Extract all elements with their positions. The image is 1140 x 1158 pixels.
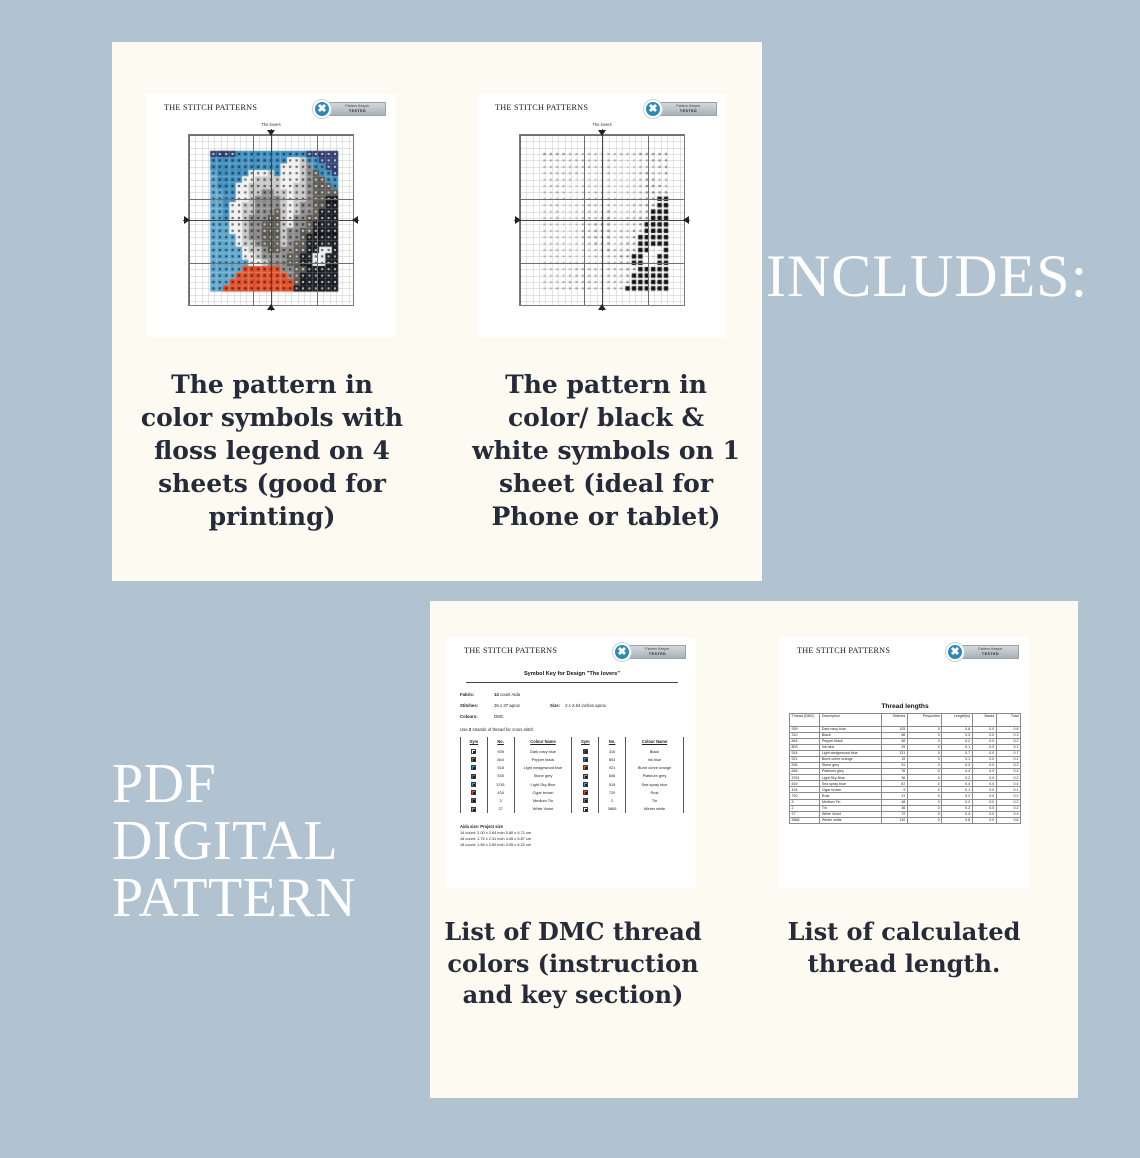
dmc-number-right: 519 [599, 780, 626, 788]
badge-x-icon: ✖ [312, 99, 332, 119]
caption-thread-length: List of calculated thread length. [766, 916, 1042, 979]
badge-line2: TESTED [661, 109, 716, 113]
aida-size-line-3: 18 count: 1.56 x 2.60 inch 3.95 x 5.22 c… [460, 842, 684, 848]
badge-line1: Pattern Keeper [963, 647, 1018, 651]
col-header-stitches: Stitches [881, 714, 907, 727]
size-label: Size: [550, 703, 560, 708]
colour-name-left: Light wedgewood blue [514, 764, 572, 772]
chart-grid [519, 134, 685, 306]
table-header-row: Sym No. Colour Name Sym No. Colour Name [461, 737, 684, 747]
pattern-keeper-badge: Pattern Keeper TESTED ✖ [312, 99, 386, 119]
thread-length: 0.6 [942, 817, 972, 823]
thread-total: 0.6 [996, 817, 1020, 823]
dmc-number-right: 3865 [599, 805, 626, 813]
symbol-swatch-right [572, 764, 599, 772]
stitch-canvas-bw [520, 135, 686, 307]
badge-ribbon: Pattern Keeper TESTED [962, 645, 1019, 659]
thread-lengths-heading: Thread lengths [789, 703, 1021, 710]
chart-marker-top-icon [598, 130, 606, 136]
divider [466, 682, 678, 683]
sheet-symbol-key[interactable]: THE STITCH PATTERNS Pattern Keeper TESTE… [446, 637, 696, 888]
floss-symbol-icon [583, 774, 588, 779]
pattern-keeper-badge: Pattern Keeper TESTED ✖ [643, 99, 717, 119]
symbol-swatch-right [572, 755, 599, 763]
thread-number: 3865 [790, 817, 820, 823]
symbol-swatch-left [461, 805, 488, 813]
pattern-chart-bw: The lovers [507, 130, 697, 325]
dmc-number-left: 27 [487, 805, 514, 813]
colour-name-left: Pepper black [514, 755, 572, 763]
col-header-length: Length(m) [942, 714, 972, 727]
pdf-line-3: PATTERN [112, 870, 356, 927]
dmc-number-left: 434 [487, 788, 514, 796]
sheet-color-symbols[interactable]: THE STITCH PATTERNS Pattern Keeper TESTE… [146, 94, 396, 337]
symbol-swatch-left [461, 788, 488, 796]
dmc-number-left: 844 [487, 755, 514, 763]
floss-symbol-icon [471, 807, 476, 812]
dmc-number-left: 939 [487, 747, 514, 755]
floss-symbol-icon [471, 782, 476, 787]
col-header-pespuntes: Pespuntes [907, 714, 941, 727]
colour-name-left: Cigar brown [514, 788, 572, 796]
symbol-swatch-right [572, 747, 599, 755]
badge-line2: TESTED [330, 109, 385, 113]
col-header-sym-left: Sym [461, 737, 488, 747]
colours-row: Colours: DMC [460, 714, 684, 719]
thread-pespuntes: 0 [907, 817, 941, 823]
symbol-swatch-left [461, 772, 488, 780]
strands-pre: Use [460, 727, 469, 732]
badge-ribbon: Pattern Keeper TESTED [329, 102, 386, 116]
badge-line2: TESTED [963, 652, 1018, 656]
fabric-row: Fabric: 14 count Aida [460, 692, 684, 697]
sheet-title: THE STITCH PATTERNS [797, 646, 890, 655]
colour-name-right: Winter white [625, 805, 683, 813]
symbol-swatch-right [572, 772, 599, 780]
pattern-keeper-badge: Pattern Keeper TESTED ✖ [945, 642, 1019, 662]
colour-name-left: Dark navy blue [514, 747, 572, 755]
thread-lengths-table: Thread (DMC) Description Stitches Pespun… [789, 713, 1021, 824]
dmc-number-right: 720 [599, 788, 626, 796]
pdf-digital-pattern-heading: PDF DIGITAL PATTERN [112, 756, 356, 927]
colour-name-left: Stone grey [514, 772, 572, 780]
colour-name-right: Platinum grey [625, 772, 683, 780]
sheet-title: THE STITCH PATTERNS [464, 646, 557, 655]
table-row: 27White Violet3865Winter white [461, 805, 684, 813]
stitches-row: Stitches: 26 x 37 aprox Size: 2 x 2.64 i… [460, 703, 684, 708]
thread-lengths-table-body: 939Dark navy blue12500.60.00.6310Black66… [790, 726, 1021, 823]
strands-post: strands of thread for cross stitch [471, 727, 533, 732]
pdf-line-2: DIGITAL [112, 813, 356, 870]
colour-name-left: Medium Tin [514, 797, 572, 805]
chart-marker-top-icon [267, 130, 275, 136]
floss-symbol-icon [583, 757, 588, 762]
sheet-thread-lengths[interactable]: THE STITCH PATTERNS Pattern Keeper TESTE… [779, 637, 1029, 888]
dmc-number-right: 2 [599, 797, 626, 805]
colour-name-right: Tin [625, 797, 683, 805]
table-row: 518Light wedgewood blue921Burnt ochre or… [461, 764, 684, 772]
floss-symbol-icon [583, 798, 588, 803]
col-header-thread: Thread (DMC) [790, 714, 820, 727]
caption-color-symbols: The pattern in color symbols with floss … [136, 368, 408, 533]
symbol-swatch-left [461, 797, 488, 805]
fabric-label: Fabric: [460, 692, 494, 697]
sheet-title: THE STITCH PATTERNS [164, 103, 257, 112]
symbol-key-table: Sym No. Colour Name Sym No. Colour Name … [460, 737, 684, 813]
chart-marker-left-icon [184, 216, 190, 224]
chart-marker-right-icon [352, 216, 358, 224]
colour-name-right: Burnt ochre orange [625, 764, 683, 772]
table-row: 3865Winter white11000.60.00.6 [790, 817, 1021, 823]
strands-instruction: Use 2 strands of thread for cross stitch [460, 727, 684, 732]
chart-center-line-horizontal [514, 220, 690, 221]
badge-x-icon: ✖ [643, 99, 663, 119]
chart-center-line-horizontal [183, 220, 359, 221]
colours-label: Colours: [460, 714, 494, 719]
thread-description: Winter white [820, 817, 881, 823]
col-header-no-left: No. [487, 737, 514, 747]
col-header-no-right: No. [599, 737, 626, 747]
thread-backs: 0.0 [972, 817, 996, 823]
stitches-value: 26 x 37 aprox [494, 703, 520, 708]
floss-symbol-icon [583, 782, 588, 787]
table-row: 3Medium Tin2Tin [461, 797, 684, 805]
chart-marker-bottom-icon [267, 304, 275, 310]
colour-name-right: Sea spray blue [625, 780, 683, 788]
symbol-swatch-left [461, 755, 488, 763]
sheet-bw-symbols[interactable]: THE STITCH PATTERNS Pattern Keeper TESTE… [477, 94, 727, 337]
symbol-swatch-left [461, 780, 488, 788]
table-header-row: Thread (DMC) Description Stitches Pespun… [790, 714, 1021, 727]
col-header-name-left: Colour Name [514, 737, 572, 747]
fabric-unit: count Aida [499, 692, 520, 697]
pattern-keeper-badge: Pattern Keeper TESTED ✖ [612, 642, 686, 662]
colour-name-left: White Violet [514, 805, 572, 813]
dmc-number-right: 921 [599, 764, 626, 772]
col-header-sym-right: Sym [572, 737, 599, 747]
colour-name-right: Rust [625, 788, 683, 796]
badge-ribbon: Pattern Keeper TESTED [660, 102, 717, 116]
sheet-header: THE STITCH PATTERNS Pattern Keeper TESTE… [446, 637, 696, 667]
badge-ribbon: Pattern Keeper TESTED [629, 645, 686, 659]
dmc-number-right: 310 [599, 747, 626, 755]
chart-grid [188, 134, 354, 306]
stitch-canvas-color [189, 135, 355, 307]
dmc-number-left: 3 [487, 797, 514, 805]
colours-value: DMC [494, 714, 504, 719]
chart-marker-left-icon [515, 216, 521, 224]
aida-size-footer: Aida size: Project size 14 count: 2.00 x… [460, 824, 684, 848]
colour-name-right: Ink blue [625, 755, 683, 763]
chart-marker-right-icon [683, 216, 689, 224]
fabric-value: 14 count Aida [494, 692, 520, 697]
floss-symbol-icon [583, 807, 588, 812]
floss-symbol-icon [583, 749, 588, 754]
symbol-swatch-right [572, 788, 599, 796]
table-row: 535Stone grey646Platinum grey [461, 772, 684, 780]
badge-x-icon: ✖ [612, 642, 632, 662]
chart-caption: The lovers [507, 122, 697, 127]
floss-symbol-icon [583, 790, 588, 795]
colour-name-right: Black [625, 747, 683, 755]
table-row: 844Pepper black803Ink blue [461, 755, 684, 763]
stitches-label: Stitches: [460, 703, 494, 708]
table-row: 434Cigar brown720Rust [461, 788, 684, 796]
floss-symbol-icon [583, 765, 588, 770]
symbol-swatch-left [461, 764, 488, 772]
dmc-number-right: 803 [599, 755, 626, 763]
dmc-number-left: 518 [487, 764, 514, 772]
sheet-title: THE STITCH PATTERNS [495, 103, 588, 112]
chart-marker-bottom-icon [598, 304, 606, 310]
symbol-swatch-right [572, 797, 599, 805]
col-header-total: Total [996, 714, 1020, 727]
sheet-header: THE STITCH PATTERNS Pattern Keeper TESTE… [146, 94, 396, 124]
symbol-swatch-right [572, 805, 599, 813]
symbol-key-body: Symbol Key for Design "The lovers" Fabri… [460, 671, 684, 848]
dmc-number-right: 646 [599, 772, 626, 780]
sheet-header: THE STITCH PATTERNS Pattern Keeper TESTE… [477, 94, 727, 124]
symbol-swatch-left [461, 747, 488, 755]
col-header-backs: Backs [972, 714, 996, 727]
includes-heading: INCLUDES: [766, 242, 1088, 311]
floss-symbol-icon [471, 765, 476, 770]
thread-lengths-body: Thread lengths Thread (DMC) Description … [789, 703, 1021, 824]
floss-symbol-icon [471, 757, 476, 762]
dmc-number-left: 3761 [487, 780, 514, 788]
sheet-header: THE STITCH PATTERNS Pattern Keeper TESTE… [779, 637, 1029, 667]
floss-symbol-icon [471, 749, 476, 754]
colour-name-left: Light Sky Blue [514, 780, 572, 788]
chart-caption: The lovers [176, 122, 366, 127]
table-row: 939Dark navy blue310Black [461, 747, 684, 755]
symbol-key-heading: Symbol Key for Design "The lovers" [460, 671, 684, 677]
pdf-line-1: PDF [112, 756, 356, 813]
badge-line2: TESTED [630, 652, 685, 656]
badge-line1: Pattern Keeper [630, 647, 685, 651]
table-row: 3761Light Sky Blue519Sea spray blue [461, 780, 684, 788]
col-header-desc: Description [820, 714, 881, 727]
floss-symbol-icon [471, 790, 476, 795]
floss-symbol-icon [471, 774, 476, 779]
caption-dmc-list: List of DMC thread colors (instruction a… [444, 916, 702, 1011]
badge-line1: Pattern Keeper [330, 104, 385, 108]
floss-symbol-icon [471, 798, 476, 803]
pattern-chart-color: The lovers [176, 130, 366, 325]
caption-bw-symbols: The pattern in color/ black & white symb… [466, 368, 746, 533]
dmc-number-left: 535 [487, 772, 514, 780]
thread-stitches: 110 [881, 817, 907, 823]
symbol-key-table-body: 939Dark navy blue310Black844Pepper black… [461, 747, 684, 813]
badge-x-icon: ✖ [945, 642, 965, 662]
col-header-name-right: Colour Name [625, 737, 683, 747]
symbol-swatch-right [572, 780, 599, 788]
badge-line1: Pattern Keeper [661, 104, 716, 108]
size-value: 2 x 2.64 inches aprox [565, 703, 606, 708]
